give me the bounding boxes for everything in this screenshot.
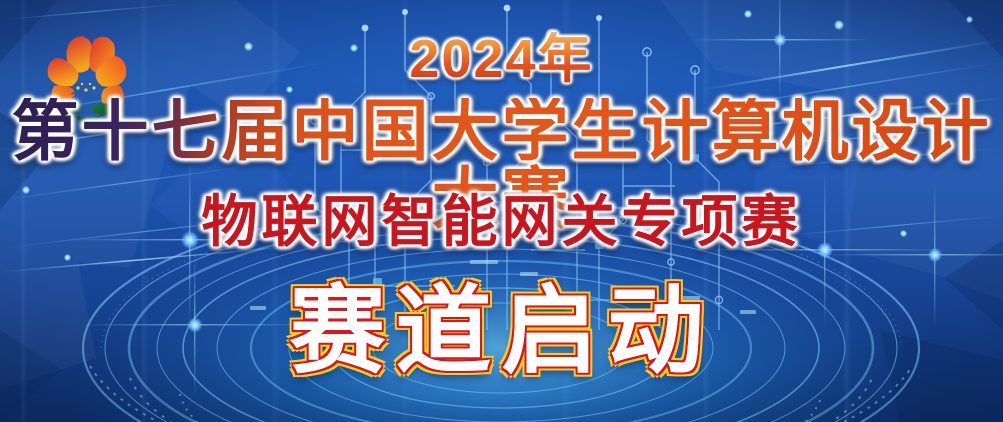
slogan: 赛道启动 bbox=[0, 282, 1003, 383]
year-line: 2024年 bbox=[0, 32, 1003, 86]
banner-text-block: 2024年 第十七届中国大学生计算机设计大赛 物联网智能网关专项赛 赛道启动 bbox=[0, 0, 1003, 422]
subtitle: 物联网智能网关专项赛 bbox=[0, 193, 1003, 252]
event-banner: 2000 2024年 第十七届中国大学生计算机设计大赛 物联网智能网关专项赛 赛… bbox=[0, 0, 1003, 422]
